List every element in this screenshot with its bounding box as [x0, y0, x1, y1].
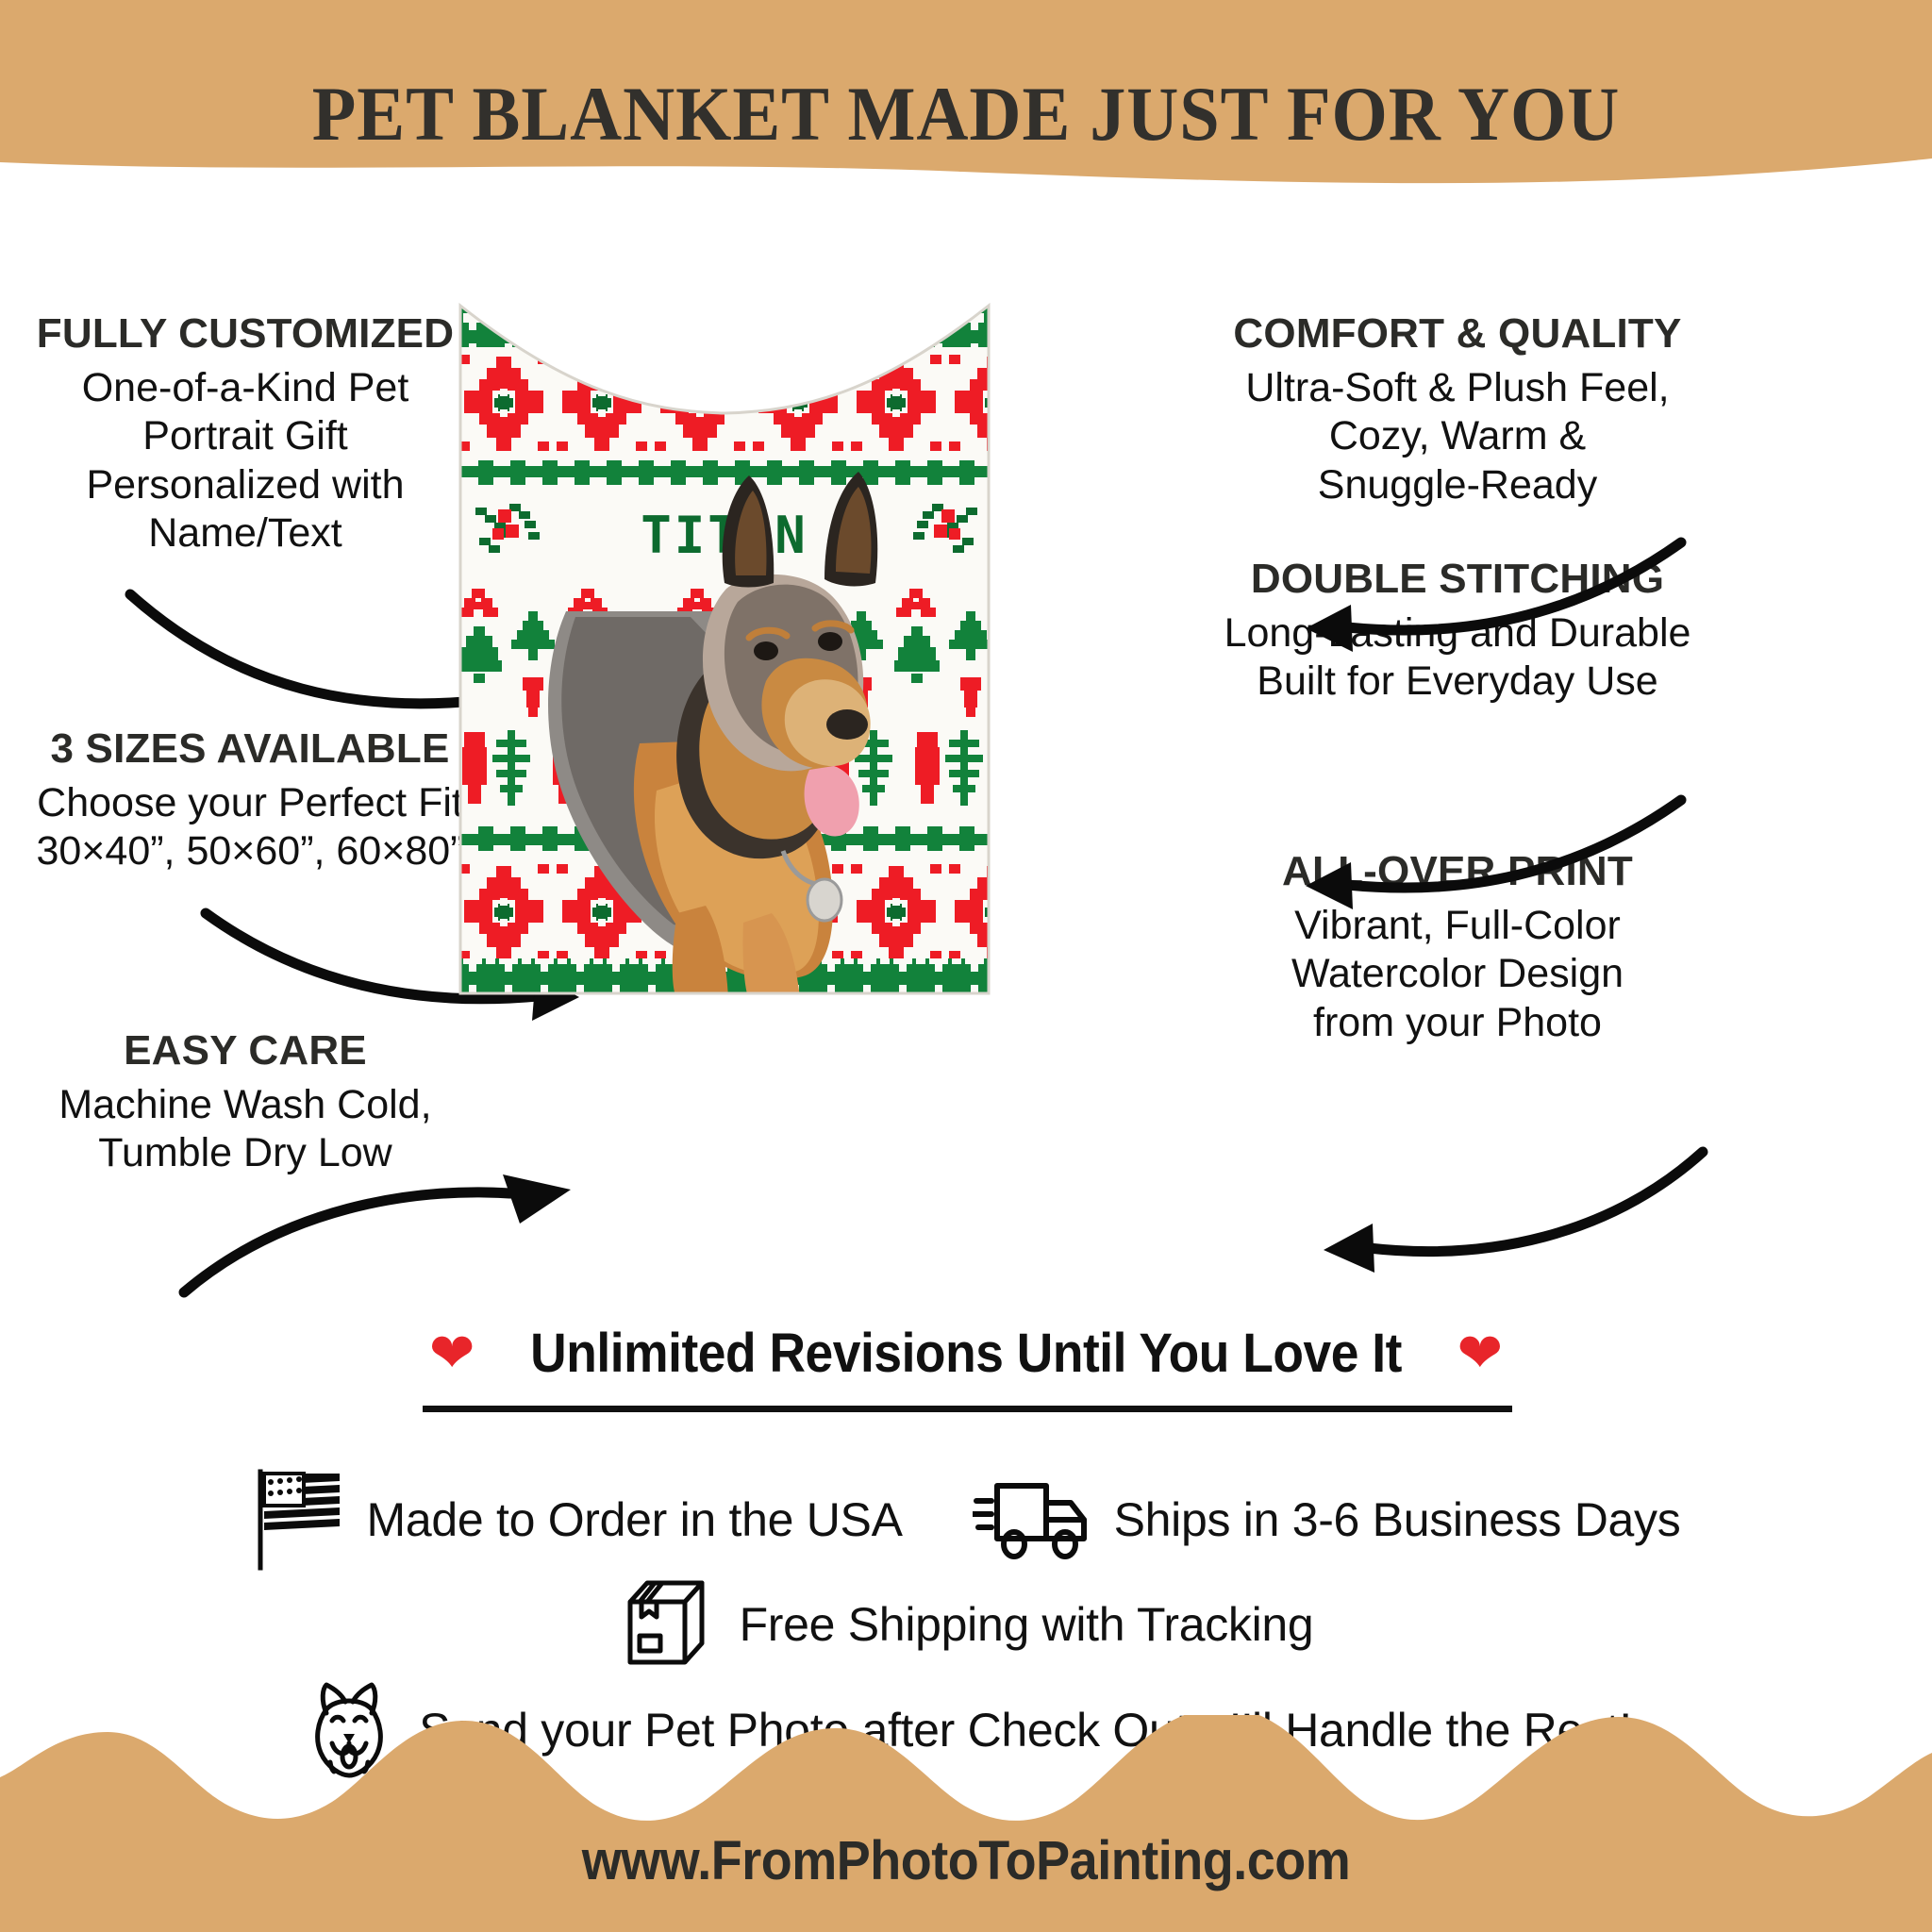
badge-label: Ships in 3-6 Business Days: [1114, 1492, 1681, 1547]
website-url: www.FromPhotoToPainting.com: [68, 1829, 1865, 1892]
feature-heading: COMFORT & QUALITY: [991, 311, 1924, 357]
feature-heading: ALL-OVER PRINT: [991, 849, 1924, 894]
feature-body: Vibrant, Full-Color Watercolor Design fr…: [991, 902, 1924, 1048]
feature-body: Long-Lasting and Durable Built for Every…: [991, 609, 1924, 707]
badge-row-1: Made to Order in the USA: [0, 1468, 1932, 1572]
badge-free-shipping: Free Shipping with Tracking: [619, 1577, 1314, 1672]
feature-fully-customized: FULLY CUSTOMIZED One-of-a-Kind Pet Portr…: [9, 311, 481, 558]
feature-body: One-of-a-Kind Pet Portrait Gift Personal…: [9, 364, 481, 558]
feature-comfort-quality: COMFORT & QUALITY Ultra-Soft & Plush Fee…: [991, 311, 1924, 509]
feature-body: Ultra-Soft & Plush Feel, Cozy, Warm & Sn…: [991, 364, 1924, 510]
badge-row-2: Free Shipping with Tracking: [0, 1577, 1932, 1672]
heart-icon-right: ❤: [1457, 1321, 1504, 1385]
revisions-underline: [423, 1406, 1512, 1412]
feature-heading: FULLY CUSTOMIZED: [9, 311, 481, 357]
shipping-box-icon: [619, 1577, 719, 1672]
badge-label: Made to Order in the USA: [367, 1492, 903, 1547]
feature-3-sizes-available: 3 SIZES AVAILABLE Choose your Perfect Fi…: [9, 726, 491, 876]
feature-heading: DOUBLE STITCHING: [991, 557, 1924, 602]
product-blanket-image: TITAN: [455, 300, 994, 998]
revisions-text: Unlimited Revisions Until You Love It: [530, 1322, 1402, 1385]
infographic-page: PET BLANKET MADE JUST FOR YOU FULLY CUST…: [0, 0, 1932, 1932]
feature-heading: 3 SIZES AVAILABLE: [9, 726, 491, 772]
badge-ships-in-days: Ships in 3-6 Business Days: [973, 1474, 1681, 1565]
feature-heading: EASY CARE: [9, 1028, 481, 1074]
badge-label: Free Shipping with Tracking: [740, 1597, 1314, 1652]
revisions-banner: ❤ Unlimited Revisions Until You Love It …: [0, 1321, 1932, 1385]
feature-body: Choose your Perfect Fit 30×40”, 50×60”, …: [9, 779, 491, 876]
feature-double-stitching: DOUBLE STITCHING Long-Lasting and Durabl…: [991, 557, 1924, 707]
arrow-print: [1307, 1146, 1712, 1278]
feature-all-over-print: ALL-OVER PRINT Vibrant, Full-Color Water…: [991, 849, 1924, 1047]
feature-body: Machine Wash Cold, Tumble Dry Low: [9, 1081, 481, 1178]
feature-easy-care: EASY CARE Machine Wash Cold, Tumble Dry …: [9, 1028, 481, 1178]
usa-flag-icon: [252, 1468, 346, 1572]
delivery-truck-icon: [973, 1474, 1093, 1565]
arrow-easy-care: [175, 1174, 590, 1307]
badge-made-in-usa: Made to Order in the USA: [252, 1468, 903, 1572]
footer-band: [0, 1715, 1932, 1932]
page-title: PET BLANKET MADE JUST FOR YOU: [68, 70, 1865, 158]
heart-icon-left: ❤: [429, 1321, 475, 1385]
